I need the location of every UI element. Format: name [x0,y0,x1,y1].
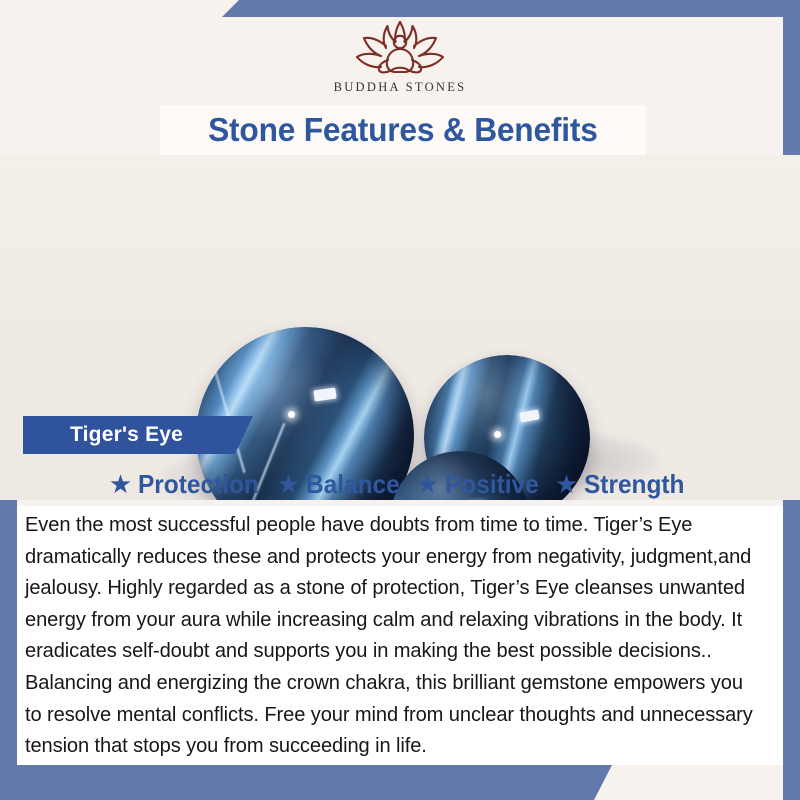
frame-bottom-band [0,765,612,800]
page-title: Stone Features & Benefits [208,111,598,149]
star-icon: ★ [277,471,300,497]
description-text: Even the most successful people have dou… [25,510,762,763]
page-title-banner: Stone Features & Benefits [160,105,646,155]
star-icon: ★ [109,471,132,497]
benefit-item-balance: ★ Balance [277,469,416,500]
brand-name: BUDDHA STONES [0,80,800,95]
benefit-item-protection: ★ Protection [109,469,277,500]
stone-name-banner: Tiger's Eye [23,416,253,454]
benefit-label: Strength [584,469,684,500]
benefit-item-strength: ★ Strength [555,469,691,500]
brand-header: BUDDHA STONES [0,0,800,105]
benefit-label: Positive [445,469,539,500]
lotus-meditation-icon [336,16,464,78]
star-icon: ★ [416,471,439,497]
stone-name: Tiger's Eye [70,423,183,447]
star-icon: ★ [555,471,578,497]
benefit-item-positive: ★ Positive [416,469,555,500]
benefit-label: Balance [306,469,400,500]
description-panel: Even the most successful people have dou… [17,506,783,765]
benefits-row: ★ Protection ★ Balance ★ Positive ★ Stre… [0,462,800,506]
brand-logo: BUDDHA STONES [0,16,800,95]
benefit-label: Protection [138,469,259,500]
poster-root: BUDDHA STONES Stone Features & Benefits [0,0,800,800]
